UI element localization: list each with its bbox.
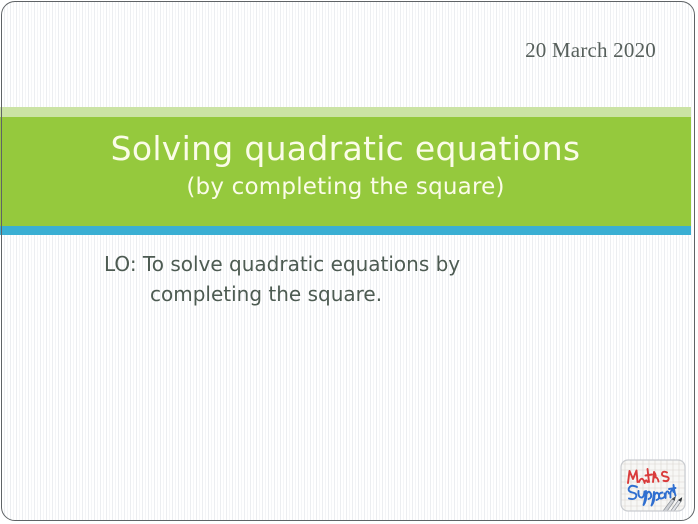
slide-date: 20 March 2020: [525, 38, 656, 62]
learning-objective-line-1: LO: To solve quadratic equations by: [104, 249, 624, 279]
title-text-block: Solving quadratic equations (by completi…: [0, 129, 691, 202]
page-title: Solving quadratic equations: [0, 129, 691, 169]
banner-green-body: Solving quadratic equations (by completi…: [0, 117, 691, 226]
banner-blue-strip: [0, 226, 691, 235]
learning-objective-line-2: completing the square.: [104, 279, 624, 309]
slide-canvas: 20 March 2020 Solving quadratic equation…: [0, 0, 698, 524]
banner-light-green-strip: [0, 107, 691, 117]
learning-objective: LO: To solve quadratic equations by comp…: [104, 249, 624, 309]
maths-support-logo: [620, 459, 686, 512]
title-banner: Solving quadratic equations (by completi…: [0, 107, 691, 235]
page-subtitle: (by completing the square): [0, 172, 691, 202]
